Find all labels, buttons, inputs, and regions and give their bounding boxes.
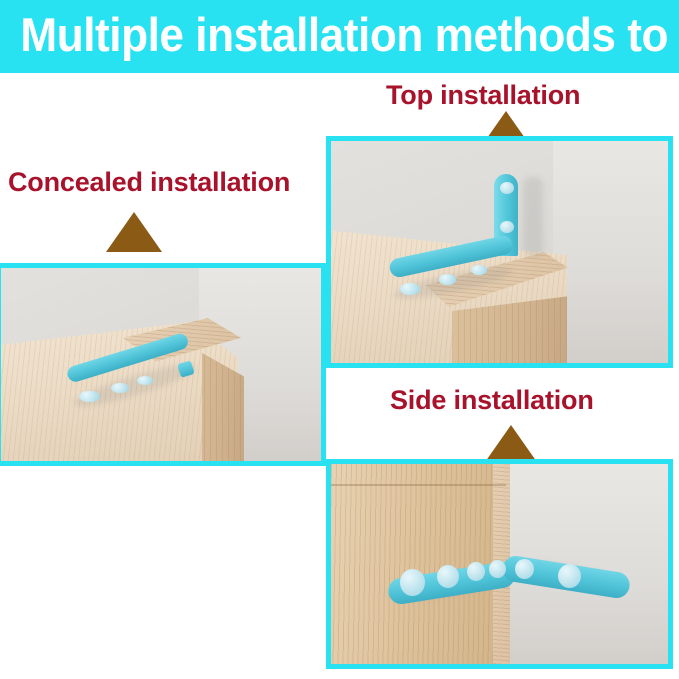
- photo-side-installation: [326, 459, 673, 669]
- scene-side: [331, 464, 668, 664]
- caption-side-installation: Side installation: [390, 385, 594, 416]
- scene-top: [331, 141, 668, 363]
- header-banner: Multiple installation methods to choose: [0, 0, 679, 73]
- scene-concealed: [1, 268, 321, 461]
- triangle-up-icon-concealed: [106, 212, 162, 252]
- screw-cap-icon-1: [500, 182, 514, 194]
- caption-concealed-installation: Concealed installation: [8, 167, 290, 198]
- screw-cap-icon-1: [79, 391, 100, 403]
- screw-cap-icon-3: [467, 562, 485, 581]
- page-title: Multiple installation methods to choose: [20, 0, 658, 73]
- product-feature-page: Multiple installation methods to choose …: [0, 0, 679, 679]
- screw-cap-icon-2: [500, 221, 514, 233]
- screw-cap-icon-4: [439, 274, 457, 285]
- photo-top-installation: [326, 136, 673, 368]
- photo-concealed-installation: [0, 263, 326, 466]
- screw-cap-icon-5: [515, 559, 534, 579]
- strap-shadow-vertical: [523, 177, 543, 257]
- screw-cap-icon-4: [489, 560, 506, 578]
- caption-top-installation: Top installation: [386, 80, 580, 111]
- panel-seam: [331, 484, 506, 486]
- wall-surface-right: [553, 141, 668, 363]
- screw-cap-icon-5: [471, 265, 487, 275]
- screw-cap-icon-2: [111, 383, 129, 393]
